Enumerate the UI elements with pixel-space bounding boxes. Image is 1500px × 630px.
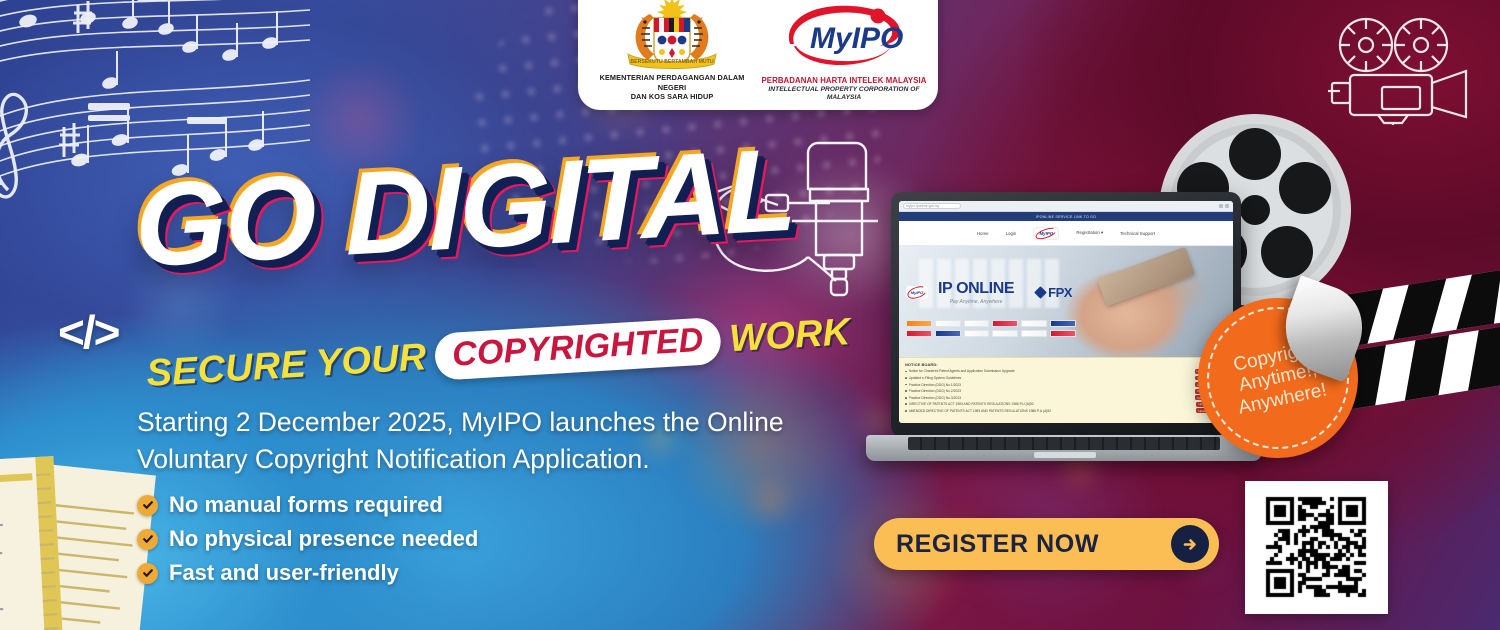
body-line-1: Starting 2 December 2025, MyIPO launches…	[137, 404, 827, 441]
fpx-logo-icon: FPX	[1036, 285, 1072, 300]
bank-logo	[964, 330, 990, 337]
bullet-dot-icon	[905, 377, 907, 379]
notice-text: DIRECTIVE OF PATENTS ACT 1983 AND PATENT…	[909, 402, 1195, 406]
ip-online-tagline: Pay Anytime, Anywhere	[938, 299, 1014, 305]
bank-logo	[935, 320, 961, 327]
nav-item-login[interactable]: Login	[1006, 231, 1017, 236]
myipo-logo-block: MyIPO PERBADANAN HARTA INTELEK MALAYSIA …	[760, 0, 928, 104]
list-item: No manual forms required	[137, 492, 478, 518]
bank-logo	[1050, 320, 1076, 327]
list-item-label: Fast and user-friendly	[169, 560, 399, 586]
notice-text: AMENDED DIRECTIVE OF PATENTS ACT 1983 AN…	[909, 409, 1195, 413]
bank-logo	[935, 330, 961, 337]
site-navigation: Home Login MyIPO Registration ▾ Technica…	[899, 221, 1233, 246]
laptop-screen: myipo.iponline.gov.my IPONLINE SERVICE L…	[899, 201, 1233, 423]
qr-code-card	[1245, 481, 1388, 614]
bank-logo-row	[906, 330, 1076, 337]
bank-logo	[1021, 330, 1047, 337]
fpx-diamond-icon	[1034, 286, 1047, 299]
promo-banner: </>	[0, 0, 1500, 630]
check-circle-icon	[137, 529, 158, 550]
bank-logo	[992, 320, 1018, 327]
headline-block: GO DIGITAL	[135, 152, 795, 265]
site-topbar: IPONLINE SERVICE LINK TO GO	[899, 212, 1233, 221]
nav-myipo-logo-icon[interactable]: MyIPO	[1033, 227, 1059, 240]
fpx-label: FPX	[1048, 285, 1072, 300]
bullet-dot-icon	[905, 397, 907, 399]
status-badge: Copyright Anytime!, Anywhere!	[1198, 298, 1358, 458]
myipo-caption-my: PERBADANAN HARTA INTELEK MALAYSIA	[761, 76, 926, 86]
laptop-keyboard	[908, 437, 1220, 450]
bank-logo-row	[906, 320, 1076, 327]
govt-caption: KEMENTERIAN PERDAGANGAN DALAM NEGERI DAN…	[588, 73, 756, 102]
browser-controls	[1219, 204, 1229, 208]
register-now-button[interactable]: REGISTER NOW	[874, 518, 1219, 570]
header-logo-card: BERSEKUTU BERTAMBAH MUTU KEMENTERIAN PER…	[578, 0, 938, 110]
nav-item-home[interactable]: Home	[977, 231, 989, 236]
code-brackets-icon: </>	[58, 305, 119, 359]
bank-logo	[964, 320, 990, 327]
url-bar[interactable]: myipo.iponline.gov.my	[903, 203, 961, 209]
list-item: No physical presence needed	[137, 526, 478, 552]
notice-board-heading: NOTICE BOARD:	[905, 362, 1227, 367]
subheadline-suffix: WORK	[728, 311, 851, 361]
bank-logo	[1050, 330, 1076, 337]
notice-text: Practice Direction (DDG) No.2/2023	[909, 389, 1193, 393]
page-title: GO DIGITAL	[134, 134, 796, 284]
myipo-logo-icon: MyIPO	[780, 0, 908, 74]
nav-item-registration[interactable]: Registration ▾	[1076, 230, 1103, 236]
site-topbar-text: IPONLINE SERVICE LINK TO GO	[1036, 215, 1096, 219]
bank-logo	[906, 330, 932, 337]
site-hero-banner: MyIPO IP ONLINE Pay Anytime, Anywhere FP…	[899, 246, 1233, 357]
bullet-dot-icon	[905, 403, 907, 405]
list-item-label: No physical presence needed	[169, 526, 478, 552]
malaysia-coat-of-arms-icon: BERSEKUTU BERTAMBAH MUTU	[618, 0, 726, 70]
notice-board: NOTICE BOARD: Notice for Chartered Paten…	[899, 357, 1233, 423]
bank-logos-strip	[906, 320, 1076, 340]
myipo-caption-en: INTELLECTUAL PROPERTY CORPORATION OF MAL…	[760, 86, 928, 102]
notice-text: Practice Direction (DDG) No.1/2023	[909, 383, 1193, 387]
nav-item-technical-support[interactable]: Technical Support	[1120, 231, 1155, 236]
bullet-dot-icon	[905, 390, 907, 392]
bullet-dot-icon	[905, 384, 907, 386]
bank-logo	[1021, 320, 1047, 327]
notice-item[interactable]: Practice Direction (DDG) No.2/2023 Updat…	[905, 389, 1227, 394]
notice-item[interactable]: DIRECTIVE OF PATENTS ACT 1983 AND PATENT…	[905, 402, 1227, 407]
notice-item[interactable]: Practice Direction (DDG) No.3/2023 Updat…	[905, 395, 1227, 400]
ip-online-title: IP ONLINE	[938, 280, 1014, 297]
check-circle-icon	[137, 495, 158, 516]
ip-online-brand: MyIPO IP ONLINE Pay Anytime, Anywhere FP…	[906, 280, 1072, 305]
list-item-label: No manual forms required	[169, 492, 443, 518]
svg-text:MyIPO: MyIPO	[810, 22, 903, 55]
notice-text: Updated e-Filing System Guidelines	[909, 376, 1194, 380]
check-circle-icon	[137, 563, 158, 584]
notice-item[interactable]: Notice for Chartered Patent Agents and A…	[905, 369, 1227, 374]
register-now-label: REGISTER NOW	[896, 530, 1099, 559]
notice-item[interactable]: Updated e-Filing System Guidelines Updat…	[905, 376, 1227, 381]
ip-online-myipo-icon: MyIPO	[906, 286, 928, 299]
notice-text: Notice for Chartered Patent Agents and A…	[909, 369, 1193, 373]
laptop-trackpad	[1034, 452, 1096, 458]
notice-item[interactable]: AMENDED DIRECTIVE OF PATENTS ACT 1983 AN…	[905, 408, 1227, 413]
qr-code-icon[interactable]	[1254, 490, 1379, 605]
notice-text: Practice Direction (DDG) No.3/2023	[909, 396, 1193, 400]
body-copy: Starting 2 December 2025, MyIPO launches…	[137, 404, 827, 477]
list-item: Fast and user-friendly	[137, 560, 478, 586]
bank-logo	[906, 320, 932, 327]
bullet-dot-icon	[905, 371, 907, 373]
svg-text:BERSEKUTU BERTAMBAH MUTU: BERSEKUTU BERTAMBAH MUTU	[630, 59, 713, 65]
arrow-right-icon	[1171, 525, 1209, 563]
bank-logo	[992, 330, 1018, 337]
body-line-2: Voluntary Copyright Notification Applica…	[137, 441, 827, 478]
bullet-dot-icon	[905, 410, 907, 412]
browser-chrome: myipo.iponline.gov.my	[899, 201, 1233, 212]
benefits-list: No manual forms required No physical pre…	[137, 492, 478, 594]
govt-logo-block: BERSEKUTU BERTAMBAH MUTU KEMENTERIAN PER…	[588, 0, 756, 104]
notice-item[interactable]: Practice Direction (DDG) No.1/2023 Updat…	[905, 382, 1227, 387]
